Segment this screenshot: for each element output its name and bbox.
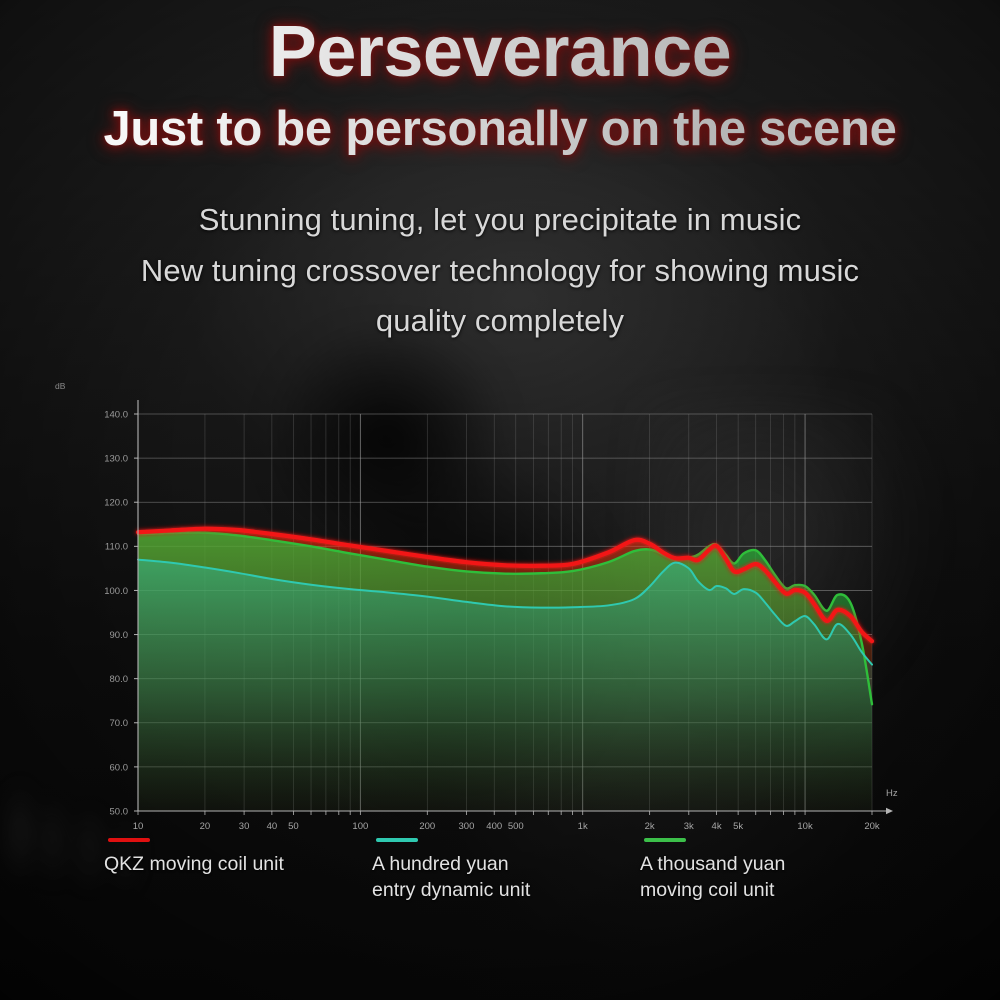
- y-tick-label: 100.0: [104, 586, 128, 597]
- legend-item-qkz[interactable]: QKZ moving coil unit: [104, 838, 372, 904]
- chart-x-tick-labels: 10203040501002003004005001k2k3k4k5k10k20…: [133, 811, 880, 832]
- y-tick-label: 110.0: [105, 542, 128, 553]
- legend-swatch-cyan: [376, 838, 418, 842]
- legend-swatch-red: [108, 838, 150, 842]
- x-tick-label: 20: [200, 821, 211, 832]
- page-title: Perseverance: [0, 0, 1000, 88]
- chart-y-tick-labels: 140.0130.0120.0110.0100.090.080.070.060.…: [104, 409, 138, 817]
- y-tick-label: 60.0: [110, 762, 129, 773]
- chart-series-fills: [138, 529, 872, 811]
- x-tick-label: 10k: [797, 821, 813, 832]
- tagline-line-1: Stunning tuning, let you precipitate in …: [0, 195, 1000, 245]
- y-tick-label: 80.0: [110, 674, 129, 685]
- chart-canvas: 140.0130.0120.0110.0100.090.080.070.060.…: [0, 364, 1000, 834]
- legend-swatch-green: [644, 838, 686, 842]
- x-tick-label: 40: [267, 821, 278, 832]
- chart-y-axis-unit: dB: [55, 381, 66, 391]
- x-tick-label: 400: [486, 821, 502, 832]
- tagline-line-2: New tuning crossover technology for show…: [0, 246, 1000, 296]
- x-tick-label: 2k: [645, 821, 655, 832]
- x-tick-label: 10: [133, 821, 144, 832]
- legend-item-thousand-yuan[interactable]: A thousand yuan moving coil unit: [640, 838, 908, 904]
- x-tick-label: 500: [508, 821, 524, 832]
- tagline-line-3: quality completely: [0, 296, 1000, 346]
- page-subtitle: Just to be personally on the scene: [0, 104, 1000, 155]
- legend-label-hundred-yuan: A hundred yuan entry dynamic unit: [372, 851, 640, 904]
- legend-item-hundred-yuan[interactable]: A hundred yuan entry dynamic unit: [372, 838, 640, 904]
- y-tick-label: 120.0: [104, 498, 128, 509]
- x-tick-label: 300: [459, 821, 475, 832]
- frequency-response-chart: 140.0130.0120.0110.0100.090.080.070.060.…: [0, 364, 1000, 834]
- promo-page: Perseverance Just to be personally on th…: [0, 0, 1000, 1000]
- x-tick-label: 1k: [578, 821, 588, 832]
- y-tick-label: 90.0: [110, 630, 129, 641]
- x-tick-label: 5k: [733, 821, 743, 832]
- chart-legend: QKZ moving coil unit A hundred yuan entr…: [0, 838, 1000, 904]
- tagline-block: Stunning tuning, let you precipitate in …: [0, 195, 1000, 346]
- y-tick-label: 50.0: [110, 806, 129, 817]
- x-tick-label: 30: [239, 821, 250, 832]
- x-tick-label: 4k: [712, 821, 722, 832]
- x-tick-label: 100: [352, 821, 368, 832]
- y-tick-label: 140.0: [104, 409, 128, 420]
- legend-label-qkz: QKZ moving coil unit: [104, 851, 372, 877]
- x-tick-label: 50: [288, 821, 299, 832]
- x-tick-label: 200: [419, 821, 435, 832]
- x-tick-label: 20k: [864, 821, 880, 832]
- legend-label-thousand-yuan: A thousand yuan moving coil unit: [640, 851, 908, 904]
- hero-section: Perseverance Just to be personally on th…: [0, 0, 1000, 155]
- y-tick-label: 70.0: [110, 718, 129, 729]
- y-tick-label: 130.0: [104, 454, 128, 465]
- chart-x-axis-unit: Hz: [886, 788, 898, 799]
- x-tick-label: 3k: [684, 821, 694, 832]
